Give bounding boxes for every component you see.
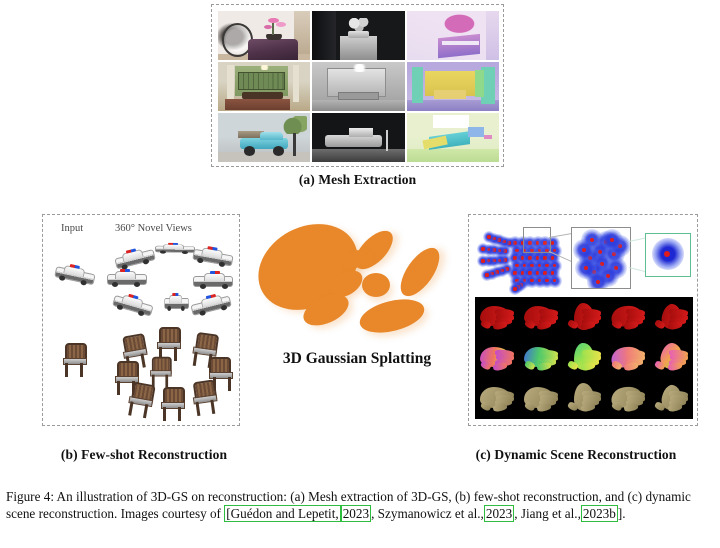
cell-mesh-orchid-table <box>312 11 404 60</box>
flower-pot <box>266 34 282 41</box>
mesh-background <box>312 11 336 60</box>
chair-leg <box>80 363 83 377</box>
gaussian-center-dot <box>610 238 614 242</box>
mesh-truck-cab <box>349 128 373 137</box>
hand-rgb-render <box>562 378 606 419</box>
mesh-table <box>338 92 379 100</box>
mesh-ground <box>312 149 404 162</box>
panel-b-few-shot: Input 360° Novel Views <box>42 214 240 426</box>
gaussian-center-dot <box>481 247 484 250</box>
leader-line <box>629 267 647 272</box>
seg-pole-region <box>484 135 491 140</box>
hand-rgb-render <box>475 378 519 419</box>
caption-suffix: ]. <box>618 506 626 521</box>
panel-a-label: (a) Mesh Extraction <box>211 172 504 188</box>
chandelier <box>259 65 270 70</box>
mesh-pot <box>348 31 368 38</box>
car-wheel <box>80 280 87 286</box>
mesh-table <box>340 36 377 60</box>
hand-normal-render <box>519 338 563 379</box>
novel-view-car <box>192 293 233 318</box>
mesh-pole <box>386 130 388 152</box>
hand-normal-render <box>562 338 606 379</box>
gaussian-center-dot <box>584 266 588 270</box>
panel-b-input-header: Input <box>61 223 83 234</box>
panel-b-label: (b) Few-shot Reconstruction <box>0 447 288 463</box>
panel-c-dynamic-scene <box>468 214 698 426</box>
hand-depth-render <box>606 297 650 338</box>
seg-wall-region <box>486 11 499 60</box>
gaussian-center-dot <box>513 287 516 290</box>
gaussian-ellipse <box>362 273 390 297</box>
novel-view-car <box>192 246 232 268</box>
novel-view-car <box>114 247 155 272</box>
cabinet <box>238 72 284 91</box>
ground-region <box>218 152 310 162</box>
hand-rgb-render <box>519 378 563 419</box>
hand-finger <box>667 321 682 330</box>
mesh-floor <box>312 100 404 111</box>
pillar-left <box>227 65 233 102</box>
novel-view-chair <box>189 379 219 416</box>
hand-finger <box>536 321 551 330</box>
truck-wheel <box>244 146 255 156</box>
citation-sep-2: , Jiang et al., <box>514 506 581 521</box>
single-gaussian-kernel <box>645 233 691 277</box>
purple-tablecloth <box>248 39 298 60</box>
gaussian-center-dot <box>664 251 670 257</box>
seg-tree-region <box>468 127 485 138</box>
seg-pillar-left <box>412 67 423 103</box>
panel-b-novel-views-header: 360° Novel Views <box>115 223 192 234</box>
seg-sky-region <box>433 115 470 128</box>
gaussian-ellipse <box>356 293 427 338</box>
figure-caption: Figure 4: An illustration of 3D-GS on re… <box>6 489 718 522</box>
citation-guedon-lepetit[interactable]: [Guédon and Lepetit, <box>224 505 340 522</box>
cell-rgb-pickup-truck <box>218 113 310 162</box>
zoomed-gaussian-cluster <box>571 227 631 289</box>
gaussian-center-dot <box>481 259 484 262</box>
hand-depth-render <box>649 297 693 338</box>
cell-rgb-dining-room <box>218 62 310 111</box>
hand-finger <box>624 321 639 330</box>
cell-seg-pickup-truck <box>407 113 499 162</box>
gaussian-center-dot <box>582 248 586 252</box>
gaussian-center-dot <box>596 280 600 284</box>
rug <box>225 99 290 110</box>
cell-seg-orchid-table <box>407 11 499 60</box>
hand-rgb-render <box>649 378 693 419</box>
hand-normal-render <box>649 338 693 379</box>
input-car <box>54 263 94 287</box>
car-wheel <box>59 275 66 281</box>
crop-region-box <box>523 227 551 253</box>
gaussian-hand-diagram <box>475 221 693 293</box>
panel-c-label: (c) Dynamic Scene Reconstruction <box>432 447 720 463</box>
seg-table-region <box>434 90 465 99</box>
citation-year-2023-b[interactable]: 2023 <box>484 505 514 522</box>
hand-depth-render <box>475 297 519 338</box>
orchid-bloom <box>276 22 286 27</box>
dining-table <box>242 92 283 98</box>
cell-mesh-dining-room <box>312 62 404 111</box>
gaussian-center-dot <box>485 273 488 276</box>
novel-view-car <box>155 244 193 254</box>
hand-depth-render <box>519 297 563 338</box>
novel-view-car <box>107 271 145 287</box>
citation-sep-1: , Szymanowicz et al., <box>371 506 484 521</box>
hand-finger <box>493 321 508 330</box>
pole <box>293 133 296 157</box>
chair-leg <box>65 363 68 377</box>
pillar-right <box>293 65 299 102</box>
gaussian-center-dot <box>487 235 490 238</box>
hand-rgb-render <box>606 378 650 419</box>
novel-view-car <box>112 292 153 318</box>
truck-cab <box>260 132 282 141</box>
panel-a-mesh-extraction <box>211 4 504 167</box>
mesh-flower <box>347 18 371 31</box>
cell-rgb-orchid-table <box>218 11 310 60</box>
novel-view-chair <box>159 387 185 421</box>
gaussian-splatting-title: 3D Gaussian Splatting <box>246 350 468 368</box>
dynamic-hand-render-grid <box>475 297 693 419</box>
cell-mesh-pickup-truck <box>312 113 404 162</box>
hand-normal-render <box>475 338 519 379</box>
hand-depth-render <box>562 297 606 338</box>
seg-table-region <box>438 33 480 57</box>
seg-window-region <box>475 70 484 97</box>
hand-normal-render <box>606 338 650 379</box>
input-chair <box>61 343 87 377</box>
gaussian-ellipse <box>393 242 446 303</box>
novel-view-chair <box>148 357 171 388</box>
mesh-light <box>351 64 368 72</box>
mesh-extraction-image-grid <box>218 11 499 162</box>
novel-view-car <box>164 295 188 311</box>
trees <box>283 116 307 134</box>
orchid-stem <box>272 23 274 35</box>
citation-year-2023-a[interactable]: 2023 <box>341 505 371 522</box>
novel-view-car <box>195 273 233 289</box>
seg-ground-region <box>407 149 499 162</box>
cell-seg-dining-room <box>407 62 499 111</box>
citation-year-2023b[interactable]: 2023b <box>581 505 618 522</box>
seg-highlight-strip <box>442 41 479 45</box>
